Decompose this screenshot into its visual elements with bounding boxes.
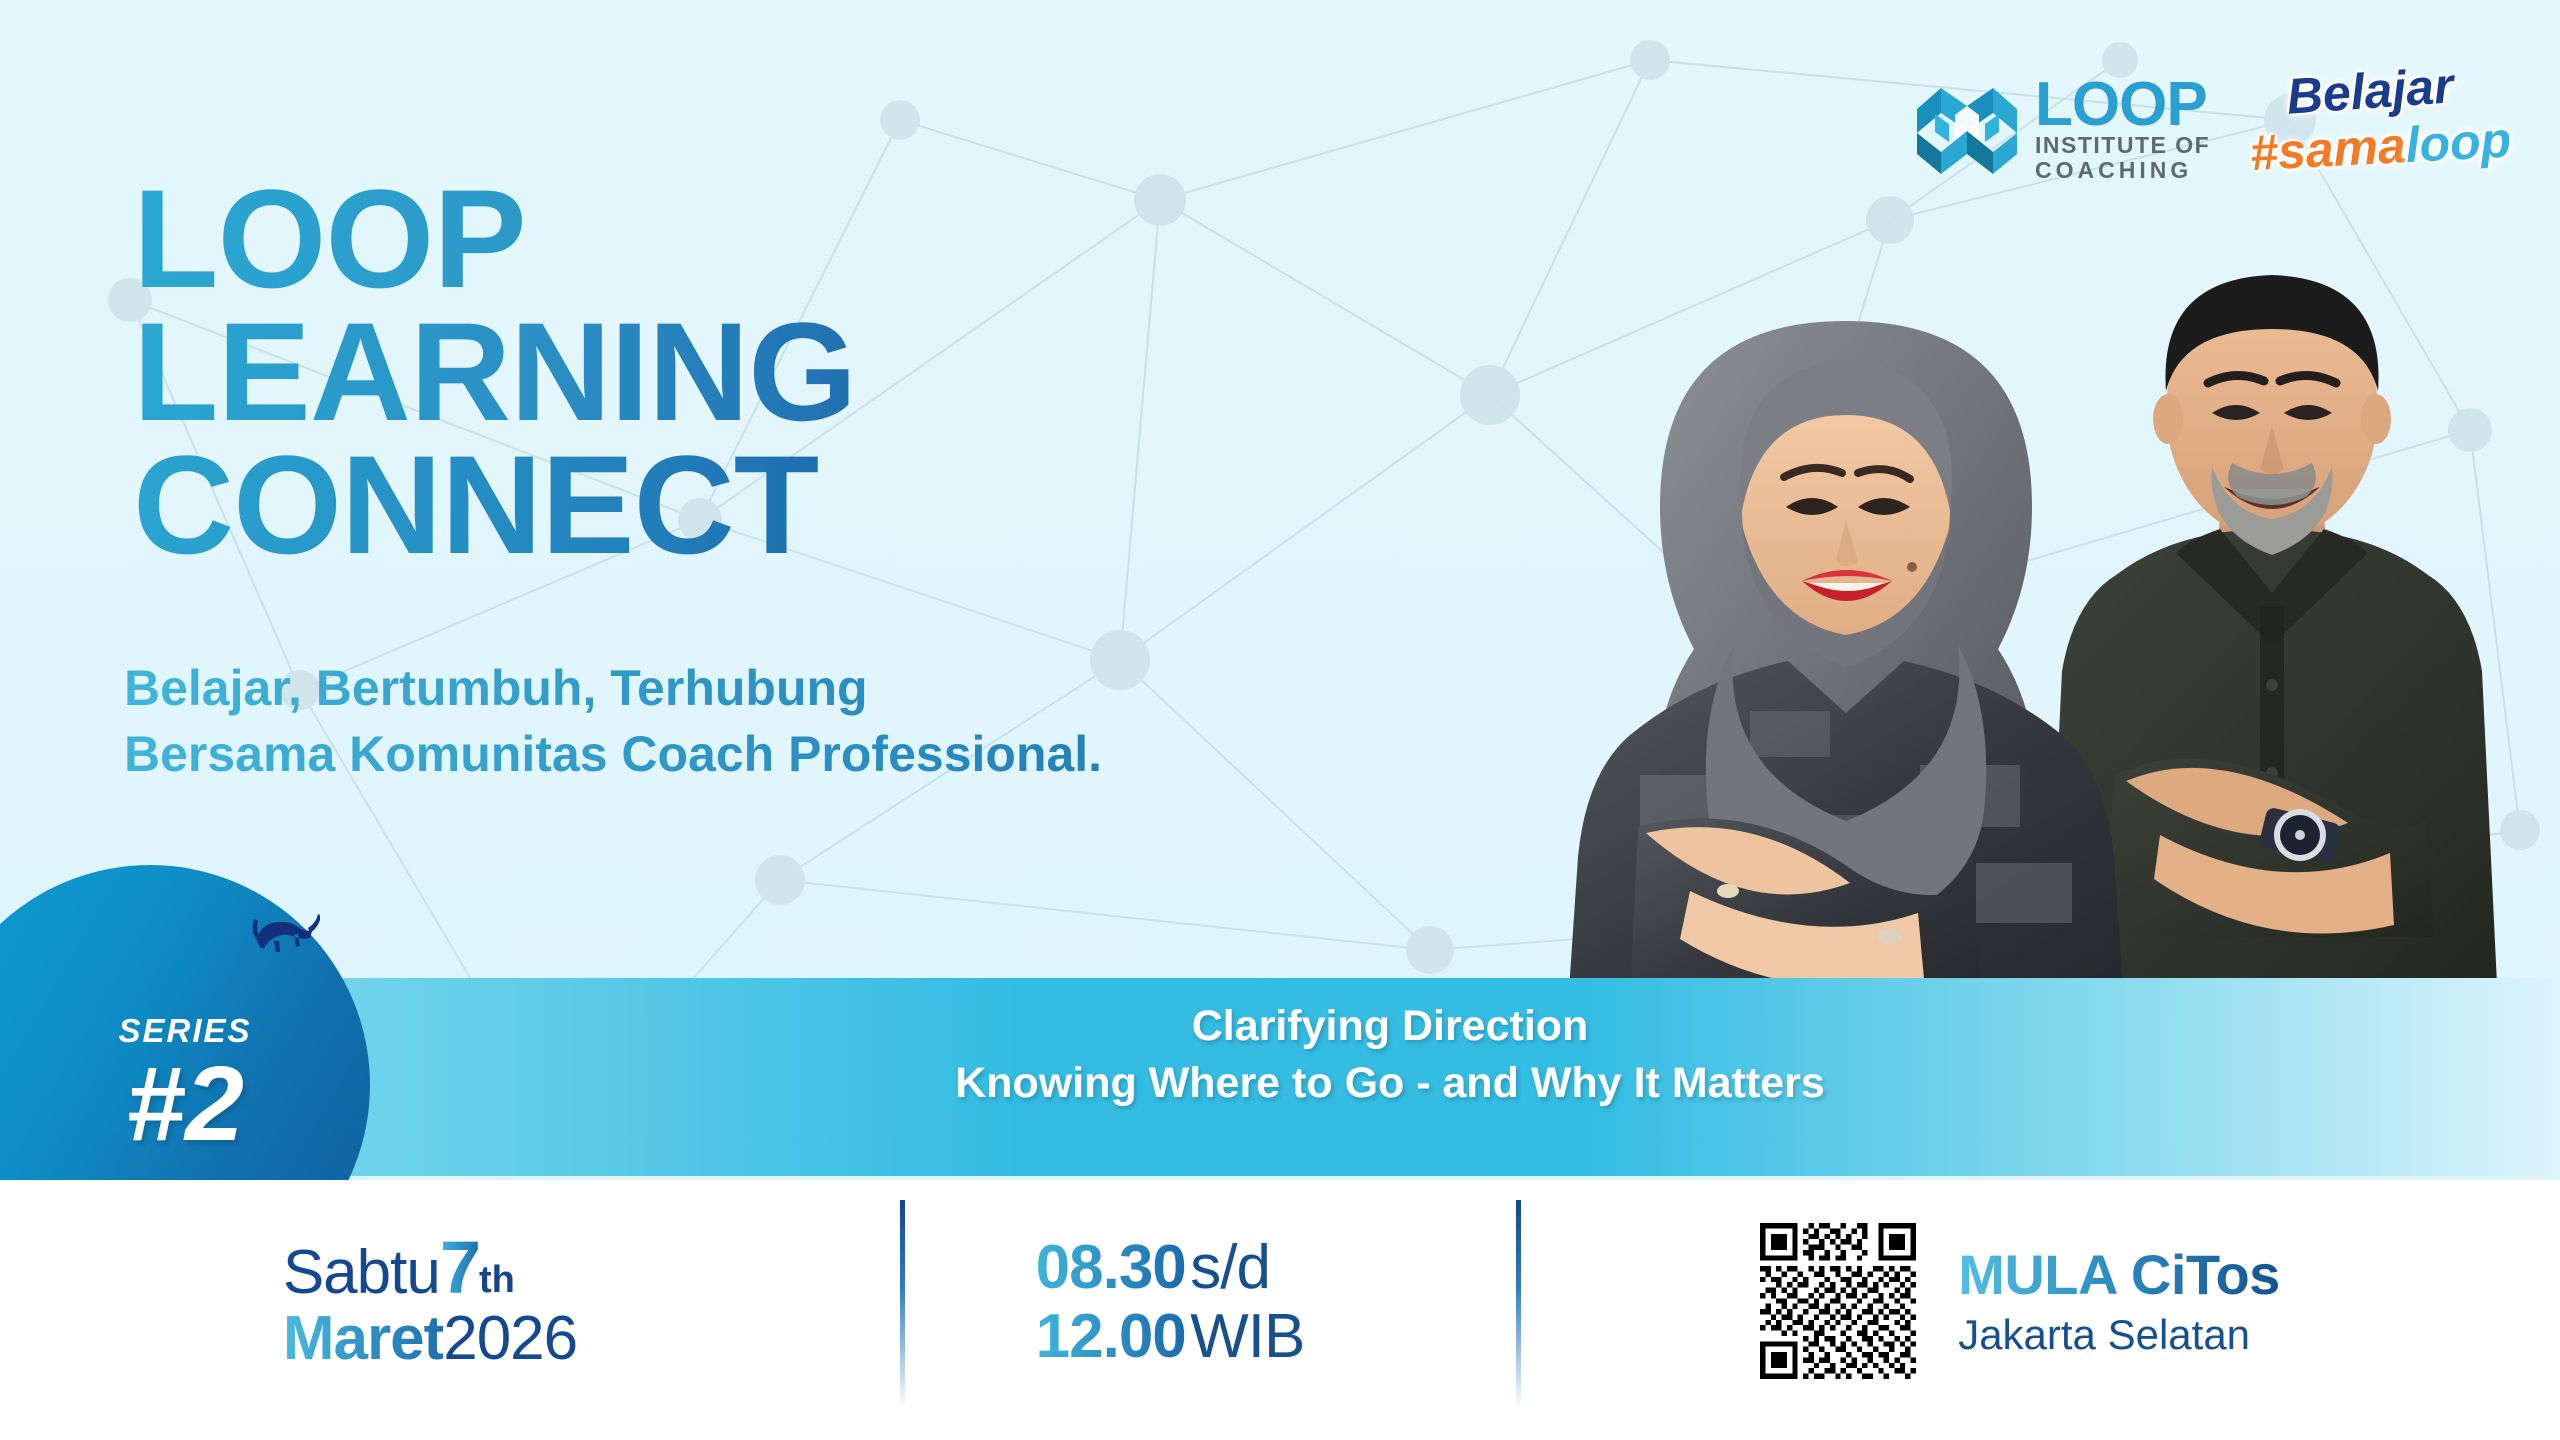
event-time-line-1: 08.30 s/d [1036,1233,1305,1302]
page-title: LOOP LEARNING CONNECT [133,172,1213,571]
loop-logo-text: LOOP [2035,78,2210,133]
loop-knot-icon [1915,84,2019,178]
event-day-name: Sabtu [283,1238,440,1307]
campaign-hashtag-sama: #sama [2249,117,2407,181]
session-subtitle: Knowing Where to Go - and Why It Matters [360,1055,2420,1112]
event-venue-block: MULA CiTos Jakarta Selatan [1480,1180,2560,1440]
tagline-line-2: Bersama Komunitas Coach Professional. [124,721,1374,787]
series-label: SERIES [118,1014,251,1047]
campaign-hashtag: #samaloop [2249,116,2491,178]
event-time-line-2: 12.00 WIB [1036,1302,1305,1371]
banner-upper-stage: LOOP LEARNING CONNECT Belajar, Bertumbuh… [0,0,2560,1180]
speakers-photo [1520,215,2540,1005]
event-time-start: 08.30 [1036,1233,1186,1302]
event-details-bar: Sabtu7th Maret2026 08.30 s/d 12.00 WIB [0,1180,2560,1440]
loop-logo-subtitle-1: INSTITUTE OF [2035,133,2210,159]
loop-logo-subtitle-2: COACHING [2035,158,2210,184]
event-day-number: 7 [440,1226,479,1309]
venue-name: MULA CiTos [1958,1244,2280,1306]
tagline-line-1: Belajar, Bertumbuh, Terhubung [124,655,1374,721]
session-title: Clarifying Direction [360,998,2420,1055]
campaign-hashtag-loop: loop [2404,112,2512,173]
venue-text: MULA CiTos Jakarta Selatan [1958,1244,2280,1358]
event-time-end: 12.00 [1036,1302,1186,1371]
headline-line-3: CONNECT [133,438,1213,571]
event-banner: LOOP LEARNING CONNECT Belajar, Bertumbuh… [0,0,2560,1440]
session-title-text: Clarifying Direction Knowing Where to Go… [360,998,2420,1112]
event-date-line-2: Maret2026 [283,1306,577,1371]
event-time-block: 08.30 s/d 12.00 WIB [860,1180,1480,1440]
campaign-hashtag-badge: Belajar #samaloop [2250,66,2490,186]
event-month: Maret [283,1304,443,1373]
photo-person-left [1568,321,2124,1005]
venue-city: Jakarta Selatan [1958,1312,2280,1358]
event-year: 2026 [443,1304,577,1373]
cat-silhouette-icon [250,905,320,955]
headline-line-2: LEARNING [133,305,1213,438]
tagline: Belajar, Bertumbuh, Terhubung Bersama Ko… [124,655,1374,787]
event-date-block: Sabtu7th Maret2026 [0,1180,860,1440]
headline-line-1: LOOP [133,172,1213,305]
event-timezone: WIB [1190,1302,1304,1371]
series-number: #2 [126,1051,244,1157]
event-date-line-1: Sabtu7th [283,1229,577,1307]
loop-logo-wordmark: LOOP INSTITUTE OF COACHING [2035,78,2210,184]
event-day-ordinal: th [479,1259,515,1301]
event-time-separator: s/d [1190,1233,1270,1302]
qr-code-icon[interactable] [1760,1223,1916,1379]
loop-institute-logo: LOOP INSTITUTE OF COACHING [1915,78,2210,184]
